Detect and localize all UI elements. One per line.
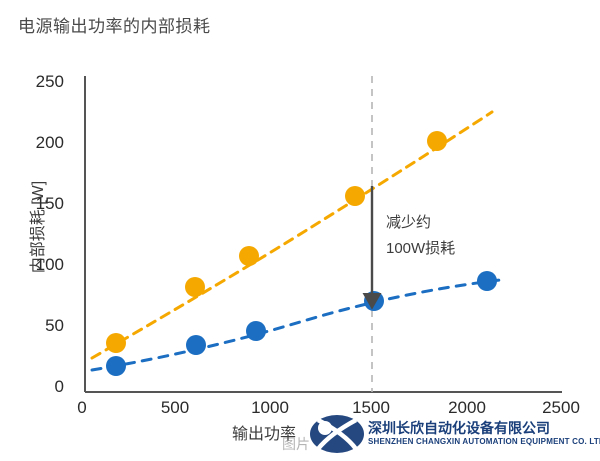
blue-data-point	[186, 335, 206, 355]
watermark-company-cn: 深圳长欣自动化设备有限公司	[368, 418, 550, 438]
reduction-callout-line1: 减少约	[386, 210, 455, 236]
reduction-callout: 减少约 100W损耗	[386, 210, 455, 262]
watermark-logo-icon	[310, 415, 364, 453]
blue-data-point	[246, 321, 266, 341]
orange-data-point	[185, 277, 205, 297]
blue-series-line	[92, 280, 500, 370]
blue-data-point	[106, 356, 126, 376]
blue-data-point	[364, 291, 384, 311]
orange-data-point	[239, 246, 259, 266]
chart-figure: 电源输出功率的内部损耗 内部损耗 [W] 输出功率 250 200 150 10…	[0, 0, 600, 461]
watermark-company-en: SHENZHEN CHANGXIN AUTOMATION EQUIPMENT C…	[368, 437, 600, 446]
reduction-callout-line2: 100W损耗	[386, 236, 455, 262]
watermark-ghost-text: 图片	[282, 434, 310, 454]
orange-data-point	[427, 131, 447, 151]
orange-data-point	[345, 186, 365, 206]
plot-area	[0, 0, 600, 461]
blue-data-point	[477, 271, 497, 291]
orange-data-point	[106, 333, 126, 353]
